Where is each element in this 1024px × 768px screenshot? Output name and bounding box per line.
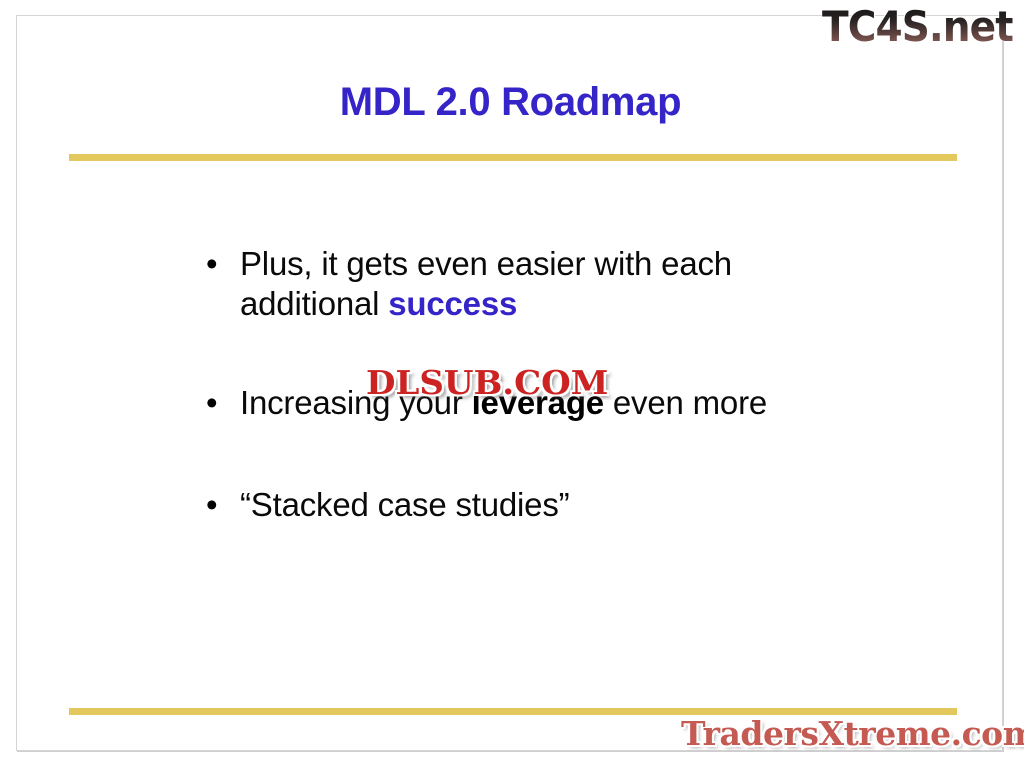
watermark-tradersxtreme: TradersXtreme.com: [681, 714, 1024, 753]
spacer: [192, 423, 952, 485]
list-item: • “Stacked case studies”: [192, 485, 952, 525]
watermark-dlsub: DLSUB.COM: [366, 363, 608, 402]
list-item-text-segment: even more: [604, 384, 767, 421]
bullet-point-icon: •: [192, 244, 240, 284]
divider-top: [69, 154, 957, 161]
bullet-point-icon: •: [192, 485, 240, 525]
bullet-point-icon: •: [192, 383, 240, 423]
watermark-tc4s: TC4S.net: [822, 2, 1013, 51]
page-title: MDL 2.0 Roadmap: [17, 80, 1004, 125]
list-item-text-segment: “Stacked case studies”: [240, 486, 569, 523]
list-item-emphasis-success: success: [388, 285, 517, 322]
list-item-text: Plus, it gets even easier with each addi…: [240, 244, 880, 325]
list-item-text: “Stacked case studies”: [240, 485, 880, 525]
list-item: • Plus, it gets even easier with each ad…: [192, 244, 952, 325]
